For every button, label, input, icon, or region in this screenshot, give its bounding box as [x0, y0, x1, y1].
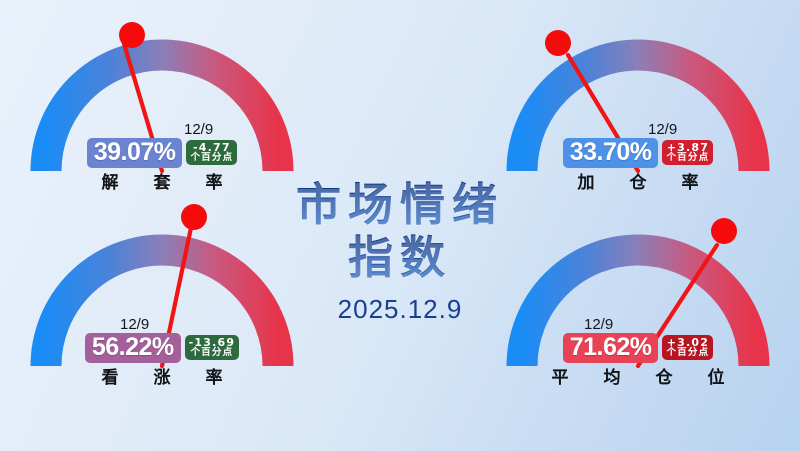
gauge-value-row-3: 56.22% -13.69 个百分点	[12, 333, 312, 362]
gauge-metric-name-1: 解 套 率	[12, 168, 312, 193]
gauge-value-row-2: 33.70% +3.87 个百分点	[488, 138, 788, 167]
gauge-delta-unit-4: 个百分点	[666, 348, 709, 358]
gauge-delta-unit-1: 个百分点	[190, 153, 233, 163]
gauge-date-label-4: 12/9	[584, 316, 613, 333]
gauge-metric-name-3: 看 涨 率	[12, 363, 312, 388]
gauge-delta-unit-3: 个百分点	[189, 348, 236, 358]
gauge-date-row-4: 12/9	[488, 316, 788, 333]
gauge-date-label-2: 12/9	[648, 121, 677, 138]
gauge-delta-badge-2: +3.87 个百分点	[662, 140, 713, 166]
gauge-value-1: 39.07%	[87, 138, 183, 168]
gauge-date-label-1: 12/9	[184, 121, 213, 138]
gauge-metric-name-2: 加 仓 率	[488, 168, 788, 193]
gauge-ping-jun-cang-wei: 12/9 71.62% +3.02 个百分点 平 均 仓 位	[488, 203, 788, 418]
gauge-value-3: 56.22%	[85, 333, 181, 363]
gauge-jia-cang-lv: 12/9 33.70% +3.87 个百分点 加 仓 率	[488, 8, 788, 223]
gauge-readout-1: 12/9 39.07% -4.77 个百分点 解 套 率	[12, 121, 312, 193]
gauge-needle-knob-1	[119, 22, 145, 48]
gauge-readout-3: 12/9 56.22% -13.69 个百分点 看 涨 率	[12, 316, 312, 388]
gauge-date-label-3: 12/9	[120, 316, 149, 333]
gauge-readout-2: 12/9 33.70% +3.87 个百分点 加 仓 率	[488, 121, 788, 193]
gauge-date-row-1: 12/9	[12, 121, 312, 138]
gauge-readout-4: 12/9 71.62% +3.02 个百分点 平 均 仓 位	[488, 316, 788, 388]
gauge-value-row-1: 39.07% -4.77 个百分点	[12, 138, 312, 167]
gauge-delta-unit-2: 个百分点	[666, 153, 709, 163]
gauge-delta-badge-4: +3.02 个百分点	[662, 335, 713, 361]
infographic-canvas: 市场情绪 指数 2025.12.9 12/9	[0, 0, 800, 451]
gauge-jie-tao-lv: 12/9 39.07% -4.77 个百分点 解 套 率	[12, 8, 312, 223]
gauge-metric-name-4: 平 均 仓 位	[488, 363, 788, 388]
gauge-needle-knob-4	[711, 218, 737, 244]
gauge-date-row-2: 12/9	[488, 121, 788, 138]
gauge-delta-badge-3: -13.69 个百分点	[185, 335, 240, 361]
gauge-delta-badge-1: -4.77 个百分点	[186, 140, 237, 166]
gauge-needle-knob-2	[545, 30, 571, 56]
gauge-value-2: 33.70%	[563, 138, 659, 168]
gauge-needle-knob-3	[181, 204, 207, 230]
gauge-value-row-4: 71.62% +3.02 个百分点	[488, 333, 788, 362]
gauge-value-4: 71.62%	[563, 333, 659, 363]
gauge-date-row-3: 12/9	[12, 316, 312, 333]
gauge-kan-zhang-lv: 12/9 56.22% -13.69 个百分点 看 涨 率	[12, 203, 312, 418]
